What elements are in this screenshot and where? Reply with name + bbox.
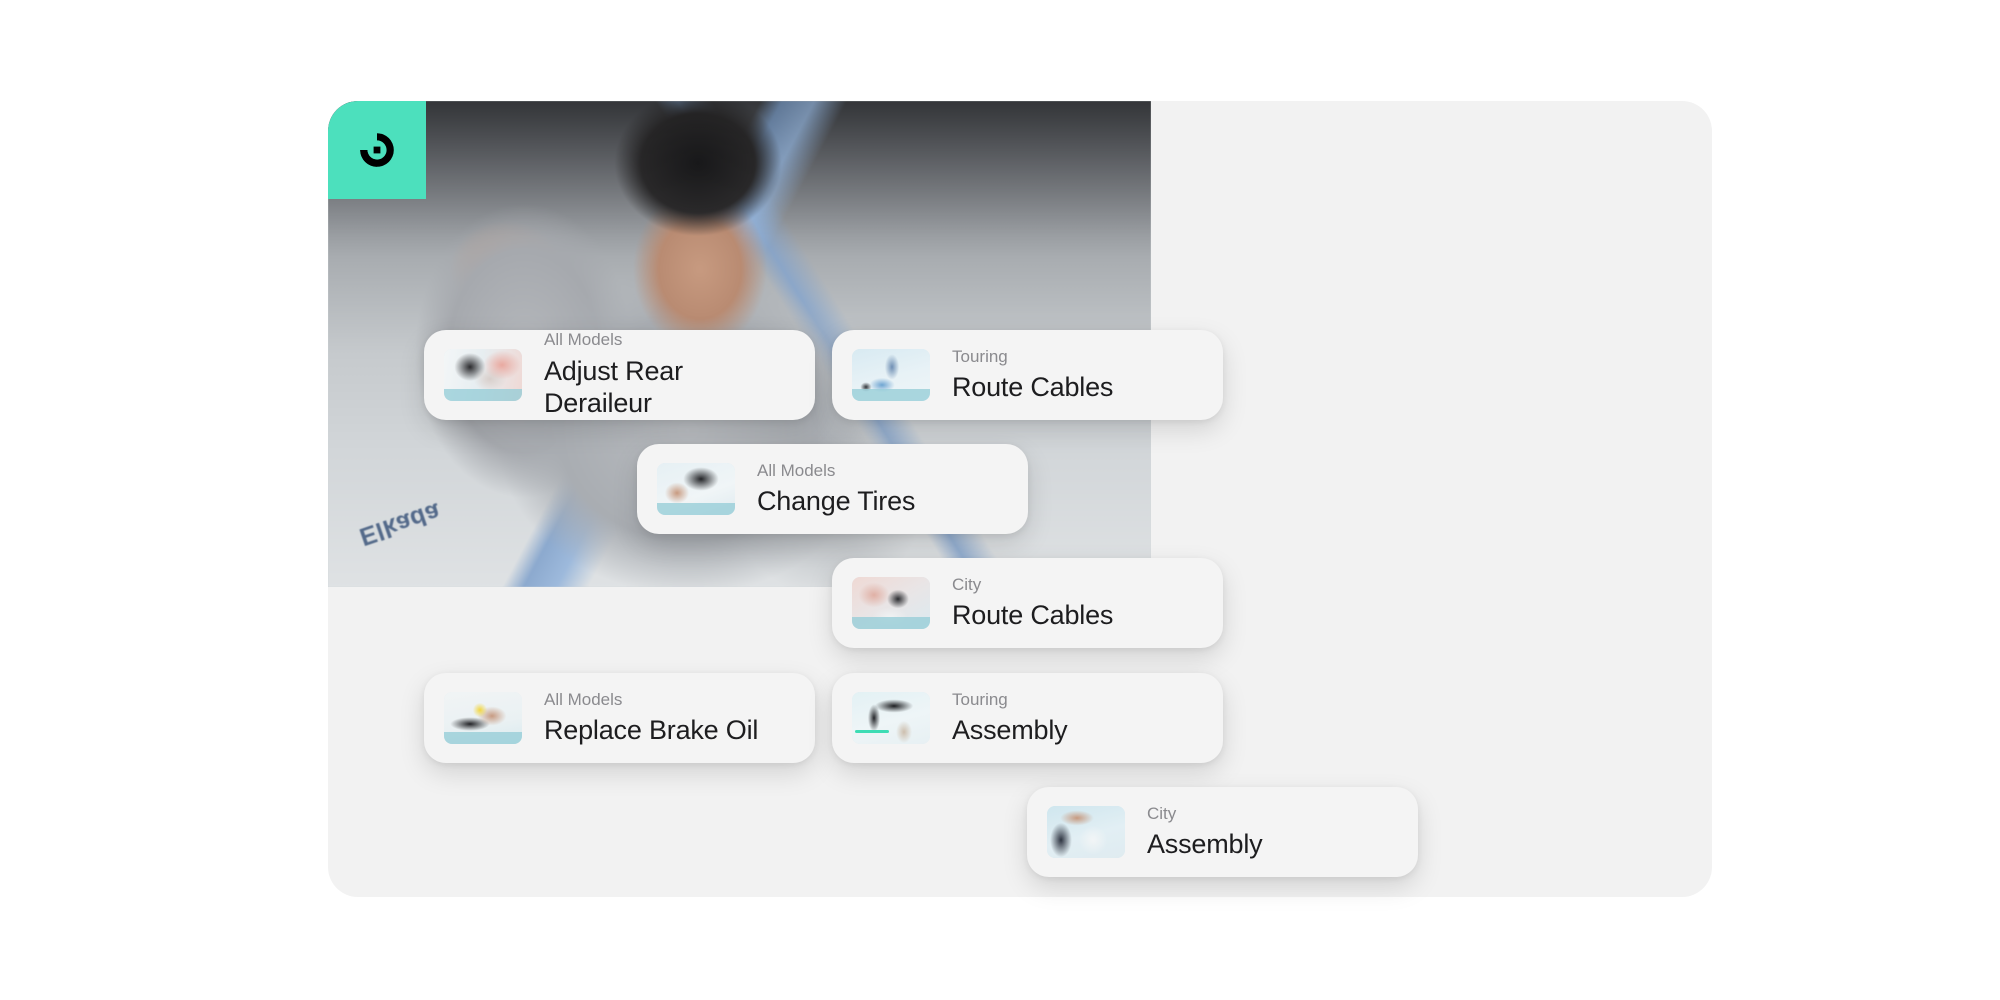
task-model-label: All Models [757,461,915,481]
task-meta: CityAssembly [1147,804,1262,861]
task-card[interactable]: TouringAssembly [832,673,1223,763]
thumbnail-caption-bar [444,389,522,401]
task-model-label: City [1147,804,1262,824]
thumbnail-image [852,692,930,744]
thumbnail-caption-bar [852,617,930,629]
task-model-label: Touring [952,690,1067,710]
task-card[interactable]: CityAssembly [1027,787,1418,877]
task-meta: All ModelsChange Tires [757,461,915,518]
task-model-label: Touring [952,347,1113,367]
task-thumbnail [657,463,735,515]
task-title: Route Cables [952,371,1113,403]
thumbnail-caption-bar [852,389,930,401]
task-meta: All ModelsAdjust Rear Deraileur [544,330,795,419]
task-card[interactable]: CityRoute Cables [832,558,1223,648]
task-model-label: All Models [544,690,758,710]
task-thumbnail [444,349,522,401]
task-meta: All ModelsReplace Brake Oil [544,690,758,747]
task-thumbnail [1047,806,1125,858]
task-meta: TouringRoute Cables [952,347,1113,404]
task-card[interactable]: All ModelsReplace Brake Oil [424,673,815,763]
circular-sync-icon [356,129,398,171]
task-thumbnail [852,692,930,744]
task-title: Assembly [952,714,1067,746]
task-meta: CityRoute Cables [952,575,1113,632]
brand-badge[interactable] [328,101,426,199]
thumbnail-progress-track [855,730,889,733]
task-thumbnail [444,692,522,744]
thumbnail-caption-bar [444,732,522,744]
task-thumbnail [852,577,930,629]
task-title: Replace Brake Oil [544,714,758,746]
task-thumbnail [852,349,930,401]
task-title: Change Tires [757,485,915,517]
task-title: Adjust Rear Deraileur [544,355,795,420]
thumbnail-caption-bar [657,503,735,515]
task-meta: TouringAssembly [952,690,1067,747]
screenshot-stage: Elkada All ModelsAdjust Rear DeraileurTo… [0,0,2000,1000]
task-title: Assembly [1147,828,1262,860]
thumbnail-progress-fill [855,730,889,733]
task-model-label: All Models [544,330,795,350]
task-card[interactable]: All ModelsAdjust Rear Deraileur [424,330,815,420]
task-model-label: City [952,575,1113,595]
task-title: Route Cables [952,599,1113,631]
task-card[interactable]: TouringRoute Cables [832,330,1223,420]
thumbnail-image [1047,806,1125,858]
task-card[interactable]: All ModelsChange Tires [637,444,1028,534]
